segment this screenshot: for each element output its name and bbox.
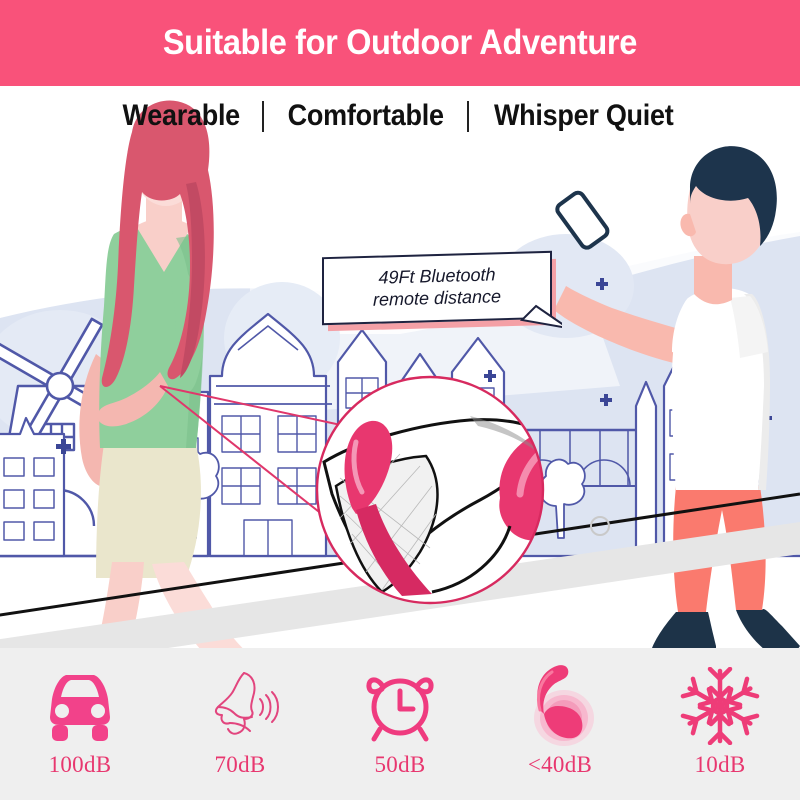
talking-person-icon xyxy=(200,664,280,748)
scene-illustration: 49Ft Bluetooth remote distance xyxy=(0,86,800,648)
noise-item-product: <40dB xyxy=(495,664,625,778)
snowflake-icon xyxy=(680,664,760,748)
feature-list: Wearable Comfortable Whisper Quiet xyxy=(0,92,800,140)
bluetooth-callout: 49Ft Bluetooth remote distance xyxy=(322,254,562,334)
feature-separator-2 xyxy=(467,101,469,132)
noise-label-car: 100dB xyxy=(49,752,112,778)
noise-label-product: <40dB xyxy=(528,752,592,778)
product-vibration-icon xyxy=(520,664,600,748)
feature-separator-1 xyxy=(262,101,264,132)
noise-item-talking: 70dB xyxy=(175,664,305,778)
woman-skirt xyxy=(96,444,201,578)
noise-item-snowflake: 10dB xyxy=(655,664,785,778)
noise-item-car: 100dB xyxy=(15,664,145,778)
noise-label-talking: 70dB xyxy=(214,752,265,778)
man-shoe-left xyxy=(652,612,716,648)
alarm-clock-icon xyxy=(360,664,440,748)
header-banner: Suitable for Outdoor Adventure xyxy=(0,0,800,86)
feature-wearable: Wearable xyxy=(123,99,240,133)
noise-label-clock: 50dB xyxy=(374,752,425,778)
callout-tail xyxy=(322,254,562,334)
scene-svg xyxy=(0,86,800,648)
noise-label-snowflake: 10dB xyxy=(694,752,745,778)
car-icon xyxy=(40,664,120,748)
feature-comfortable: Comfortable xyxy=(287,99,443,133)
noise-item-clock: 50dB xyxy=(335,664,465,778)
product-infographic: Suitable for Outdoor Adventure Wearable … xyxy=(0,0,800,800)
page-title: Suitable for Outdoor Adventure xyxy=(163,23,637,63)
feature-whisper-quiet: Whisper Quiet xyxy=(494,99,674,133)
noise-level-strip: 100dB 70dB xyxy=(0,648,800,800)
man-shoe-right xyxy=(736,609,800,648)
